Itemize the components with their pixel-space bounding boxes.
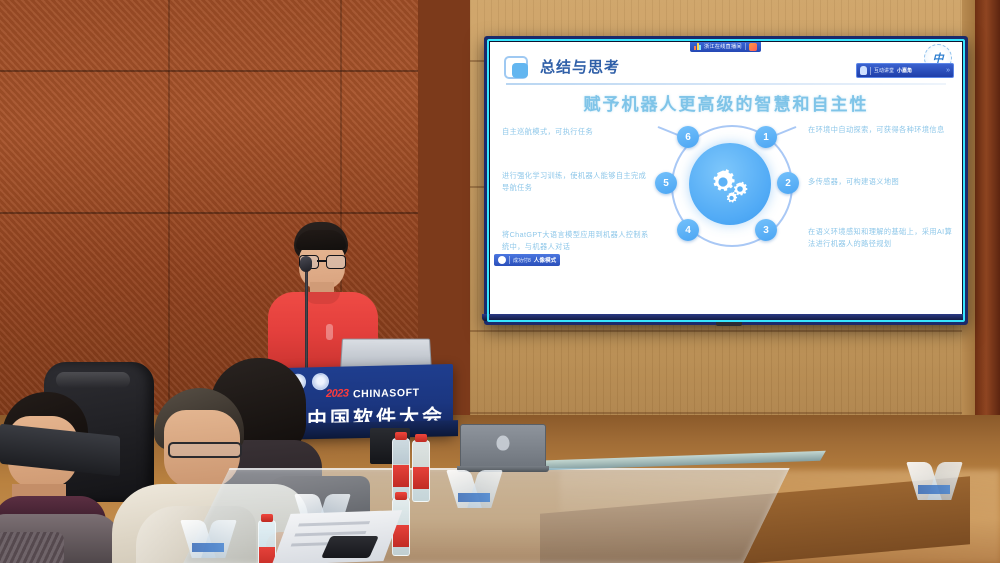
name-card-holder (452, 470, 498, 508)
badge-divider (509, 256, 510, 264)
diagram-node-3[interactable]: 3 (755, 219, 777, 241)
text-block-right-1: 在环境中自动探索，可获得各种环境信息 (808, 124, 958, 136)
text-block-left-3: 将ChatGPT大语言模型应用到机器人控制系统中，与机器人对话 (502, 229, 652, 253)
text-block-right-3: 在语义环境感知和理解的基础上，采用AI算法进行机器人的路径规划 (808, 226, 958, 250)
diagram-node-6[interactable]: 6 (677, 126, 699, 148)
livestream-right-badge[interactable]: 互动讲堂 小嘉角 » (856, 63, 954, 78)
badge-divider (870, 67, 871, 75)
spoke-left (657, 126, 678, 136)
record-dot-icon (498, 256, 506, 264)
rounded-square-icon (504, 56, 530, 80)
chevron-right-icon[interactable]: » (946, 67, 950, 74)
apple-logo-icon (497, 435, 510, 450)
name-card-holder (186, 520, 232, 558)
mobile-phone[interactable] (321, 536, 379, 558)
livestream-channel-label: 互动讲堂 (874, 67, 894, 74)
signal-bars-icon (694, 43, 701, 50)
microphone-stand (305, 263, 308, 371)
livestream-user-name: 小嘉角 (897, 67, 912, 74)
gears-icon (707, 164, 753, 204)
apple-laptop[interactable] (460, 424, 546, 468)
slide-main-title: 赋予机器人更高级的智慧和自主性 (490, 90, 962, 115)
user-avatar[interactable] (749, 43, 757, 51)
microphone-head-icon (300, 256, 312, 272)
diagram-node-1[interactable]: 1 (755, 126, 777, 148)
diagram-center-circle (689, 143, 771, 225)
diagram-node-2[interactable]: 2 (777, 172, 799, 194)
livestream-room-label: 浙江在线直播间 (704, 43, 742, 50)
livestream-status-label: 成功付8 (513, 257, 531, 264)
attendee-1 (0, 392, 122, 563)
water-bottle[interactable] (258, 520, 276, 563)
conference-year: 2023 (326, 387, 348, 400)
screenshot-root: 总结与思考 中 赋予机器人更高级的智慧和自主性 自主巡航模式，可执行任务 进行强… (0, 0, 1000, 563)
text-block-right-2: 多传感器，可构建语义地图 (808, 176, 958, 188)
livestream-mode-label: 人像模式 (534, 256, 556, 264)
circular-process-diagram: 1 2 3 4 5 6 (647, 120, 807, 250)
attendee-2-glasses (168, 442, 242, 458)
conference-brand-en: CHINASOFT (353, 387, 420, 401)
projection-screen[interactable]: 总结与思考 中 赋予机器人更高级的智慧和自主性 自主巡航模式，可执行任务 进行强… (484, 36, 968, 325)
badge-divider (745, 43, 746, 50)
spoke-right (775, 126, 796, 136)
speaker-fringe (296, 230, 346, 250)
diagram-node-4[interactable]: 4 (677, 219, 699, 241)
text-block-left-1: 自主巡航模式，可执行任务 (502, 126, 652, 138)
text-block-left-2: 进行强化学习训练，使机器人能够自主完成导航任务 (502, 170, 652, 194)
speaker-shirt-logo (326, 324, 333, 340)
livestream-top-badge[interactable]: 浙江在线直播间 (690, 42, 761, 52)
water-bottle[interactable] (412, 440, 430, 502)
name-card-holder (912, 462, 958, 500)
livestream-bottom-badge[interactable]: 成功付8 人像模式 (494, 254, 560, 266)
water-bottle[interactable] (392, 438, 410, 500)
presentation-slide: 总结与思考 中 赋予机器人更高级的智慧和自主性 自主巡航模式，可执行任务 进行强… (490, 42, 962, 316)
diagram-node-5[interactable]: 5 (655, 172, 677, 194)
microphone-icon (860, 66, 867, 75)
screen-stand (716, 320, 742, 326)
header-divider (506, 83, 946, 85)
slide-section-title: 总结与思考 (540, 56, 620, 77)
attendee-1-sleeve (0, 532, 64, 563)
